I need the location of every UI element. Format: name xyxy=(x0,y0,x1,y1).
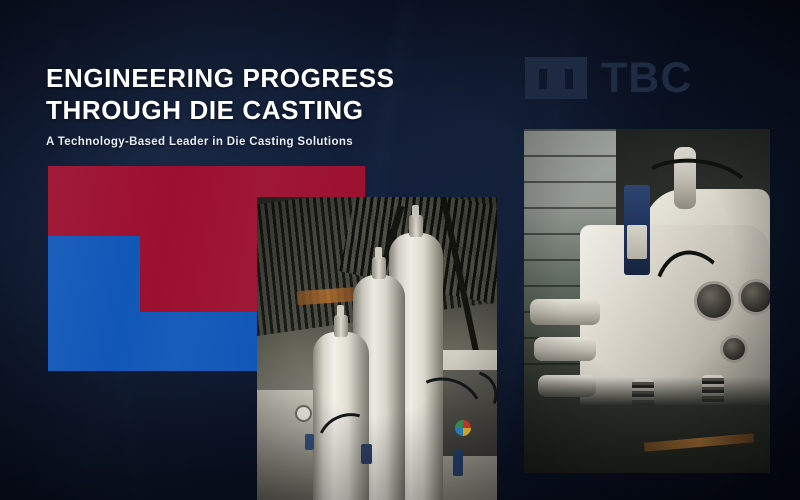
hero-banner: TBC ENGINEERING PROGRESS THROUGH DIE CAS… xyxy=(0,0,800,500)
tbc-logo: TBC xyxy=(525,52,775,104)
valve-block xyxy=(305,434,314,450)
floor-shadow xyxy=(524,377,770,473)
accumulator-cap xyxy=(337,305,344,317)
accumulator-cap xyxy=(375,247,382,259)
accumulator-neck xyxy=(334,315,348,337)
tbc-monogram-icon xyxy=(525,57,587,99)
pipe-stub xyxy=(530,299,600,325)
indicator-dial xyxy=(455,420,471,436)
subheadline: A Technology-Based Leader in Die Casting… xyxy=(46,136,353,148)
headline-line-2: THROUGH DIE CASTING xyxy=(46,95,476,127)
valve-actuator-photo xyxy=(524,129,770,473)
accumulator-neck xyxy=(372,257,386,279)
tbc-logo-text: TBC xyxy=(601,57,692,100)
pipe-stub xyxy=(534,337,596,361)
accumulator-cap xyxy=(412,205,419,217)
pressure-gauge xyxy=(295,405,312,422)
valve-block xyxy=(361,444,372,464)
headline-group: ENGINEERING PROGRESS THROUGH DIE CASTING xyxy=(46,63,476,126)
headline-line-1: ENGINEERING PROGRESS xyxy=(46,63,395,93)
hydraulic-accumulators-photo xyxy=(257,197,497,500)
accumulator-neck xyxy=(409,215,423,237)
valve-block xyxy=(453,450,463,476)
sensor-display xyxy=(627,225,647,259)
page-title: ENGINEERING PROGRESS THROUGH DIE CASTING xyxy=(46,63,476,126)
